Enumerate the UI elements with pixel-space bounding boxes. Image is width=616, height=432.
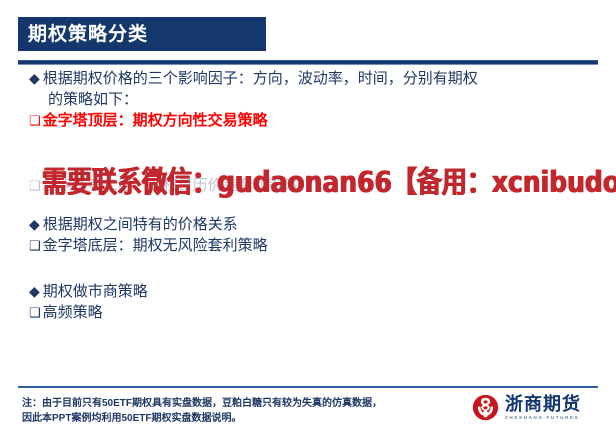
footer-note-line-2: 因此本PPT案例均利用50ETF期权实盘数据说明。 bbox=[22, 411, 462, 426]
square-bullet-icon: ❑ bbox=[29, 175, 41, 196]
bullet-label-2: 金字塔第二层：期权日历价差套利策略 bbox=[43, 175, 298, 196]
bullet-item-2: ❑ 金字塔第二层：期权日历价差套利策略 bbox=[0, 175, 616, 196]
spacer-2 bbox=[0, 153, 616, 175]
square-bullet-icon: ❑ bbox=[29, 235, 41, 256]
bullet-label-4: 金字塔底层：期权无风险套利策略 bbox=[43, 235, 268, 256]
spacer-5 bbox=[0, 274, 616, 281]
bullet-label-1: 金字塔顶层：期权方向性交易策略 bbox=[43, 110, 268, 131]
slide-title-bar: 期权策略分类 bbox=[18, 17, 266, 51]
square-bullet-icon: ❑ bbox=[29, 110, 41, 131]
company-logo: 浙商期货 ZHESHANG FUTURES bbox=[472, 394, 581, 421]
title-divider bbox=[18, 60, 598, 65]
bullet-item-6: ❑ 高频策略 bbox=[0, 302, 616, 323]
bullet-item-0: ◆ 根据期权价格的三个影响因子：方向，波动率，时间，分别有期权 bbox=[0, 68, 616, 89]
bullet-item-3: ◆ 根据期权之间特有的价格关系 bbox=[0, 214, 616, 235]
footer-divider bbox=[18, 386, 598, 388]
logo-name-en: ZHESHANG FUTURES bbox=[505, 414, 581, 421]
logo-text-group: 浙商期货 ZHESHANG FUTURES bbox=[505, 395, 581, 421]
page-title: 期权策略分类 bbox=[18, 25, 148, 44]
footer-note: 注：由于目前只有50ETF期权具有实盘数据，豆粕白糖只有较为失真的仿真数据， 因… bbox=[22, 396, 462, 426]
bullet-item-4: ❑ 金字塔底层：期权无风险套利策略 bbox=[0, 235, 616, 256]
diamond-bullet-icon: ◆ bbox=[29, 281, 40, 302]
bullet-item-1: ❑ 金字塔顶层：期权方向性交易策略 bbox=[0, 110, 616, 131]
zheshang-futures-logo-icon bbox=[472, 394, 499, 421]
slide-root: 期权策略分类 ◆ 根据期权价格的三个影响因子：方向，波动率，时间，分别有期权 的… bbox=[0, 0, 616, 432]
footer-note-line-1: 注：由于目前只有50ETF期权具有实盘数据，豆粕白糖只有较为失真的仿真数据， bbox=[22, 398, 382, 409]
bullet-label-5: 期权做市商策略 bbox=[43, 281, 148, 302]
square-bullet-icon: ❑ bbox=[29, 302, 41, 323]
spacer-1 bbox=[0, 131, 616, 153]
bullet-label-3: 根据期权之间特有的价格关系 bbox=[43, 214, 238, 235]
bullet-item-5: ◆ 期权做市商策略 bbox=[0, 281, 616, 302]
slide-body: ◆ 根据期权价格的三个影响因子：方向，波动率，时间，分别有期权 的策略如下： ❑… bbox=[0, 68, 616, 323]
spacer-3 bbox=[0, 196, 616, 214]
bullet-label-0: 根据期权价格的三个影响因子：方向，波动率，时间，分别有期权 bbox=[43, 68, 478, 89]
diamond-bullet-icon: ◆ bbox=[29, 68, 40, 89]
bullet-continuation-0: 的策略如下： bbox=[0, 89, 616, 110]
spacer-4 bbox=[0, 256, 616, 274]
logo-name-cn: 浙商期货 bbox=[505, 395, 581, 414]
diamond-bullet-icon: ◆ bbox=[29, 214, 40, 235]
bullet-label-6: 高频策略 bbox=[43, 302, 103, 323]
